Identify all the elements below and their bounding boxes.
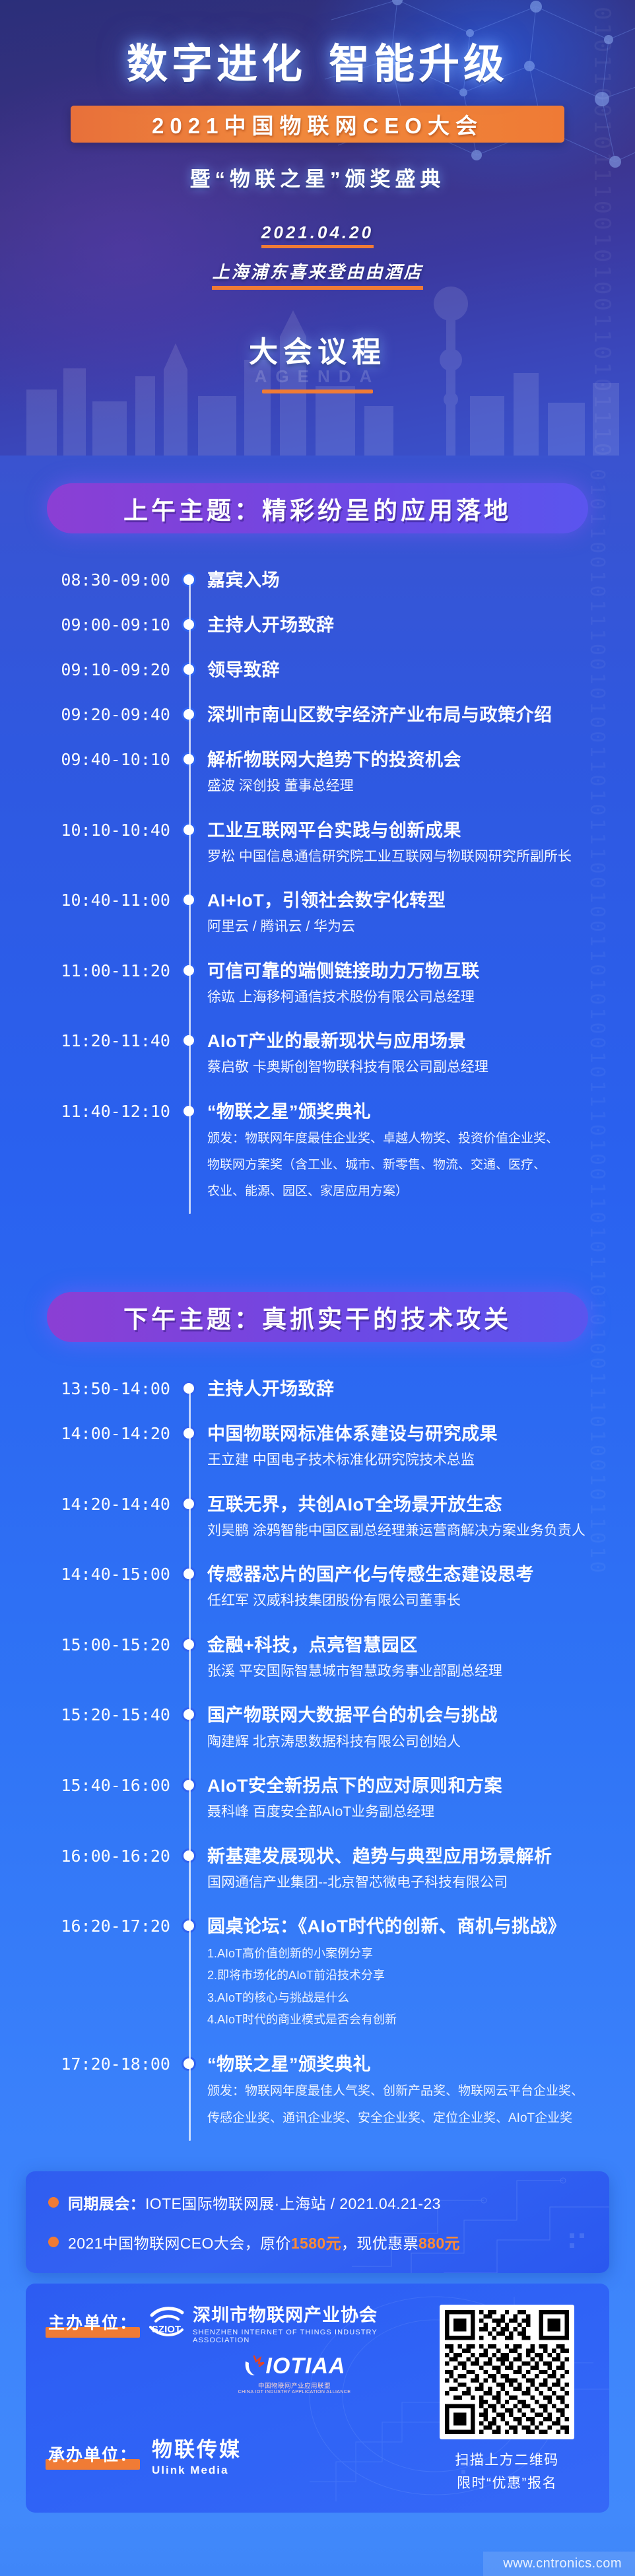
sziot-logo: SZIOT 深圳市物联网产业协会 SHENZHEN INTERNET OF TH… [147, 2301, 424, 2344]
expo-value: IOTE国际物联网展·上海站 / 2021.04.21-23 [145, 2195, 441, 2212]
agenda-topic: 解析物联网大趋势下的投资机会 [207, 749, 610, 771]
agenda-body: 0101100101110010100110101110010011010100… [0, 456, 635, 2519]
agenda-time: 09:10-09:20 [0, 659, 170, 679]
conference-name: 2021中国物联网CEO大会 [152, 108, 483, 140]
organizer-name-cn: 物联传媒 [152, 2433, 242, 2462]
agenda-speaker: 张溪 平安国际智慧城市智慧政务事业部副总经理 [207, 1661, 610, 1682]
qr-caption-line2: 限时“优惠”报名 [424, 2472, 589, 2495]
agenda-speaker: 任红军 汉威科技集团股份有限公司董事长 [207, 1590, 610, 1611]
agenda-row: 11:00-11:20 可信可靠的端侧链接助力万物互联 徐竑 上海移柯通信技术股… [0, 960, 635, 1031]
agenda-content: 圆桌论坛：《AIoT时代的创新、商机与挑战》 1.AIoT高价值创新的小案例分享… [207, 1915, 635, 2031]
agenda-topic: 金融+科技，点亮智慧园区 [207, 1634, 610, 1656]
registration-qr-code[interactable] [440, 2305, 574, 2439]
morning-session-label: 上午主题：精彩纷呈的应用落地 [123, 491, 512, 526]
expo-label: 同期展会： [68, 2195, 145, 2212]
agenda-topic: 嘉宾入场 [207, 569, 610, 592]
agenda-content: 中国物联网标准体系建设与研究成果 王立建 中国电子技术标准化研究院技术总监 [207, 1423, 635, 1471]
agenda-row: 11:20-11:40 AIoT产业的最新现状与应用场景 蔡启敬 卡奥斯创智物联… [0, 1030, 635, 1101]
agenda-topic: 工业互联网平台实践与创新成果 [207, 819, 610, 842]
agenda-topic: AI+IoT，引领社会数字化转型 [207, 889, 610, 912]
agenda-time: 10:10-10:40 [0, 819, 170, 840]
expo-info-text: 同期展会：IOTE国际物联网展·上海站 / 2021.04.21-23 [68, 2191, 441, 2214]
circuit-decor-icon [345, 2171, 609, 2273]
agenda-speaker: 徐竑 上海移柯通信技术股份有限公司总经理 [207, 987, 610, 1008]
agenda-time: 13:50-14:00 [0, 1378, 170, 1398]
panel-bullet: 4.AIoT时代的商业模式是否会有创新 [207, 2009, 610, 2031]
agenda-time: 09:40-10:10 [0, 749, 170, 769]
agenda-content: 可信可靠的端侧链接助力万物互联 徐竑 上海移柯通信技术股份有限公司总经理 [207, 960, 635, 1008]
main-title-part2: 智能升级 [329, 42, 508, 87]
agenda-speaker: 盛波 深创投 董事总经理 [207, 776, 610, 797]
agenda-content: 主持人开场致辞 [207, 1378, 635, 1400]
agenda-row: 16:00-16:20 新基建发展现状、趋势与典型应用场景解析 国网通信产业集团… [0, 1845, 635, 1916]
iotiaa-logo: IOTIAA 中国物联网产业应用联盟 CHINA IOT INDUSTRY AP… [164, 2354, 424, 2394]
agenda-row: 15:40-16:00 AIoT安全新拐点下的应对原则和方案 聂科峰 百度安全部… [0, 1775, 635, 1845]
agenda-row-award: 11:40-12:10 “物联之星”颁奖典礼 颁发：物联网年度最佳企业奖、卓越人… [0, 1101, 635, 1225]
organizers-box: 主办单位： SZIOT 深圳市物联网产业协会 SH [26, 2284, 609, 2513]
agenda-row: 13:50-14:00 主持人开场致辞 [0, 1378, 635, 1423]
agenda-time: 16:20-17:20 [0, 1915, 170, 1936]
agenda-topic: AIoT安全新拐点下的应对原则和方案 [207, 1775, 610, 1797]
agenda-topic: 国产物联网大数据平台的机会与挑战 [207, 1704, 610, 1726]
agenda-topic: 主持人开场致辞 [207, 1378, 610, 1400]
agenda-topic: 传感器芯片的国产化与传感生态建设思考 [207, 1563, 610, 1586]
organizer-label: 承办单位： [46, 2442, 140, 2467]
event-date: 2021.04.20 [261, 222, 374, 248]
agenda-row: 10:10-10:40 工业互联网平台实践与创新成果 罗松 中国信息通信研究院工… [0, 819, 635, 890]
agenda-time: 16:00-16:20 [0, 1845, 170, 1866]
agenda-topic: AIoT产业的最新现状与应用场景 [207, 1030, 610, 1052]
award-note-line3: 农业、能源、园区、家居应用方案） [207, 1180, 610, 1202]
agenda-content: 主持人开场致辞 [207, 614, 635, 636]
agenda-content: 深圳市南山区数字经济产业布局与政策介绍 [207, 704, 635, 726]
organizer-name-en: Ulink Media [152, 2464, 242, 2477]
agenda-content: 嘉宾入场 [207, 569, 635, 592]
agenda-row-panel: 16:20-17:20 圆桌论坛：《AIoT时代的创新、商机与挑战》 1.AIo… [0, 1915, 635, 2053]
award-note-line1: 颁发：物联网年度最佳人气奖、创新产品奖、物联网云平台企业奖、 [207, 2080, 610, 2102]
agenda-content: “物联之星”颁奖典礼 颁发：物联网年度最佳企业奖、卓越人物奖、投资价值企业奖、 … [207, 1101, 635, 1203]
qr-caption-line1: 扫描上方二维码 [424, 2449, 589, 2472]
agenda-time: 09:00-09:10 [0, 614, 170, 634]
agenda-time: 08:30-09:00 [0, 569, 170, 590]
agenda-subtitle-en: AGENDA [0, 366, 635, 387]
svg-text:SZIOT: SZIOT [152, 2324, 181, 2335]
section-spacer [0, 1231, 635, 1292]
agenda-row-award: 17:20-18:00 “物联之星”颁奖典礼 颁发：物联网年度最佳人气奖、创新产… [0, 2053, 635, 2152]
hero-section: 0101100101110010100110101110010011010100… [0, 0, 635, 456]
alliance-name-cn: 中国物联网产业应用联盟 [164, 2381, 424, 2390]
expo-info-line: 同期展会：IOTE国际物联网展·上海站 / 2021.04.21-23 [48, 2191, 587, 2214]
morning-session-header: 上午主题：精彩纷呈的应用落地 [47, 483, 588, 533]
agenda-row: 09:10-09:20 领导致辞 [0, 659, 635, 704]
agenda-topic: 领导致辞 [207, 659, 610, 681]
agenda-speaker: 阿里云 / 腾讯云 / 华为云 [207, 916, 610, 937]
agenda-speaker: 聂科峰 百度安全部AIoT业务副总经理 [207, 1802, 610, 1823]
agenda-time: 11:00-11:20 [0, 960, 170, 980]
panel-bullet: 3.AIoT的核心与挑战是什么 [207, 1987, 610, 2009]
agenda-content: AIoT安全新拐点下的应对原则和方案 聂科峰 百度安全部AIoT业务副总经理 [207, 1775, 635, 1823]
ticket-info-box: 同期展会：IOTE国际物联网展·上海站 / 2021.04.21-23 2021… [26, 2171, 609, 2273]
agenda-row: 09:00-09:10 主持人开场致辞 [0, 614, 635, 659]
organizer-row: 承办单位： 物联传媒 Ulink Media [46, 2433, 424, 2477]
agenda-time: 15:00-15:20 [0, 1634, 170, 1654]
award-note-line1: 颁发：物联网年度最佳企业奖、卓越人物奖、投资价值企业奖、 [207, 1128, 610, 1149]
agenda-time: 14:00-14:20 [0, 1423, 170, 1443]
agenda-time: 15:20-15:40 [0, 1704, 170, 1724]
host-row: 主办单位： SZIOT 深圳市物联网产业协会 SH [46, 2301, 424, 2344]
agenda-speaker: 蔡启敬 卡奥斯创智物联科技有限公司副总经理 [207, 1057, 610, 1078]
agenda-speaker: 国网通信产业集团--北京智芯微电子科技有限公司 [207, 1872, 610, 1893]
agenda-underline [262, 390, 373, 393]
panel-bullet: 2.即将市场化的AIoT前沿技术分享 [207, 1965, 610, 1986]
agenda-speaker: 刘昊鹏 涂鸦智能中国区副总经理兼运营商解决方案业务负责人 [207, 1520, 610, 1542]
iotiaa-flame-icon [243, 2355, 265, 2377]
organizer-logos-column: 主办单位： SZIOT 深圳市物联网产业协会 SH [46, 2301, 424, 2495]
host-label: 主办单位： [46, 2310, 140, 2335]
price-middle: ，现优惠票 [341, 2235, 418, 2252]
sziot-mark-icon: SZIOT [147, 2303, 186, 2342]
agenda-speaker: 王立建 中国电子技术标准化研究院技术总监 [207, 1450, 610, 1471]
agenda-row: 14:20-14:40 互联无界，共创AIoT全场景开放生态 刘昊鹏 涂鸦智能中… [0, 1493, 635, 1564]
conference-name-banner: 2021中国物联网CEO大会 [71, 106, 564, 143]
agenda-content: 领导致辞 [207, 659, 635, 681]
agenda-topic: 主持人开场致辞 [207, 614, 610, 636]
page-title: 数字进化智能升级 [0, 30, 635, 90]
agenda-time: 10:40-11:00 [0, 889, 170, 910]
agenda-time: 11:20-11:40 [0, 1030, 170, 1050]
agenda-speaker: 陶建辉 北京涛思数据科技有限公司创始人 [207, 1732, 610, 1753]
bullet-dot-icon [48, 2237, 59, 2247]
agenda-content: AIoT产业的最新现状与应用场景 蔡启敬 卡奥斯创智物联科技有限公司副总经理 [207, 1030, 635, 1078]
agenda-topic: 深圳市南山区数字经济产业布局与政策介绍 [207, 704, 610, 726]
agenda-content: 国产物联网大数据平台的机会与挑战 陶建辉 北京涛思数据科技有限公司创始人 [207, 1704, 635, 1752]
award-note-line2: 传感企业奖、通讯企业奖、安全企业奖、定位企业奖、AIoT企业奖 [207, 2107, 610, 2129]
price-prefix: 2021中国物联网CEO大会，原价 [68, 2235, 291, 2252]
morning-timeline: 08:30-09:00 嘉宾入场 09:00-09:10 主持人开场致辞 09:… [0, 547, 635, 1231]
main-title-part1: 数字进化 [127, 42, 306, 87]
afternoon-session-label: 下午主题：真抓实干的技术攻关 [123, 1299, 512, 1335]
conference-subtitle: 暨“物联之星”颁奖盛典 [0, 162, 635, 192]
agenda-topic: 互联无界，共创AIoT全场景开放生态 [207, 1493, 610, 1516]
agenda-content: 工业互联网平台实践与创新成果 罗松 中国信息通信研究院工业互联网与物联网研究所副… [207, 819, 635, 867]
agenda-content: AI+IoT，引领社会数字化转型 阿里云 / 腾讯云 / 华为云 [207, 889, 635, 937]
agenda-title: 大会议程 [0, 328, 635, 370]
agenda-heading-block: 大会议程 AGENDA [0, 328, 635, 393]
timeline-rail [189, 1384, 191, 2140]
agenda-row: 15:00-15:20 金融+科技，点亮智慧园区 张溪 平安国际智慧城市智慧政务… [0, 1634, 635, 1705]
site-watermark: www.cntronics.com [483, 2552, 635, 2576]
agenda-time: 15:40-16:00 [0, 1775, 170, 1795]
agenda-time: 14:40-15:00 [0, 1563, 170, 1584]
original-price: 1580元 [291, 2235, 341, 2252]
agenda-time: 14:20-14:40 [0, 1493, 170, 1514]
panel-bullet-list: 1.AIoT高价值创新的小案例分享 2.即将市场化的AIoT前沿技术分享 3.A… [207, 1943, 610, 2031]
host-name-cn: 深圳市物联网产业协会 [193, 2301, 424, 2326]
agenda-row: 14:40-15:00 传感器芯片的国产化与传感生态建设思考 任红军 汉威科技集… [0, 1563, 635, 1634]
agenda-content: 金融+科技，点亮智慧园区 张溪 平安国际智慧城市智慧政务事业部副总经理 [207, 1634, 635, 1682]
agenda-row: 09:20-09:40 深圳市南山区数字经济产业布局与政策介绍 [0, 704, 635, 749]
agenda-content: 新基建发展现状、趋势与典型应用场景解析 国网通信产业集团--北京智芯微电子科技有… [207, 1845, 635, 1893]
agenda-row: 15:20-15:40 国产物联网大数据平台的机会与挑战 陶建辉 北京涛思数据科… [0, 1704, 635, 1775]
ulink-media-logo: 物联传媒 Ulink Media [152, 2433, 242, 2477]
afternoon-session-header: 下午主题：真抓实干的技术攻关 [47, 1292, 588, 1342]
afternoon-timeline: 13:50-14:00 主持人开场致辞 14:00-14:20 中国物联网标准体… [0, 1355, 635, 2157]
qr-caption: 扫描上方二维码 限时“优惠”报名 [424, 2449, 589, 2495]
panel-bullet: 1.AIoT高价值创新的小案例分享 [207, 1943, 610, 1965]
conference-agenda-poster: 0101100101110010100110101110010011010100… [0, 0, 635, 2576]
iotiaa-text: IOTIAA [265, 2354, 345, 2379]
price-info-text: 2021中国物联网CEO大会，原价1580元，现优惠票880元 [68, 2231, 460, 2253]
agenda-row: 10:40-11:00 AI+IoT，引领社会数字化转型 阿里云 / 腾讯云 /… [0, 889, 635, 960]
iotiaa-wordmark: IOTIAA [243, 2354, 345, 2379]
timeline-rail [189, 576, 191, 1214]
agenda-content: 传感器芯片的国产化与传感生态建设思考 任红军 汉威科技集团股份有限公司董事长 [207, 1563, 635, 1611]
agenda-row: 14:00-14:20 中国物联网标准体系建设与研究成果 王立建 中国电子技术标… [0, 1423, 635, 1493]
award-note-line2: 物联网方案奖（含工业、城市、新零售、物流、交通、医疗、 [207, 1154, 610, 1176]
agenda-topic: 圆桌论坛：《AIoT时代的创新、商机与挑战》 [207, 1915, 610, 1938]
event-venue: 上海浦东喜来登由由酒店 [212, 259, 422, 290]
qr-column: 扫描上方二维码 限时“优惠”报名 [424, 2301, 589, 2495]
agenda-time: 09:20-09:40 [0, 704, 170, 724]
poster-footer: www.cntronics.com [0, 2519, 635, 2576]
agenda-row: 09:40-10:10 解析物联网大趋势下的投资机会 盛波 深创投 董事总经理 [0, 749, 635, 819]
agenda-topic: “物联之星”颁奖典礼 [207, 2053, 610, 2076]
agenda-topic: “物联之星”颁奖典礼 [207, 1101, 610, 1123]
agenda-time: 17:20-18:00 [0, 2053, 170, 2074]
host-name-en: SHENZHEN INTERNET OF THINGS INDUSTRY ASS… [193, 2328, 424, 2344]
qr-code-icon [445, 2310, 569, 2434]
agenda-content: 解析物联网大趋势下的投资机会 盛波 深创投 董事总经理 [207, 749, 635, 797]
sziot-text: 深圳市物联网产业协会 SHENZHEN INTERNET OF THINGS I… [193, 2301, 424, 2344]
agenda-topic: 可信可靠的端侧链接助力万物互联 [207, 960, 610, 982]
agenda-row: 08:30-09:00 嘉宾入场 [0, 569, 635, 614]
agenda-topic: 中国物联网标准体系建设与研究成果 [207, 1423, 610, 1445]
sale-price: 880元 [418, 2235, 460, 2252]
agenda-content: 互联无界，共创AIoT全场景开放生态 刘昊鹏 涂鸦智能中国区副总经理兼运营商解决… [207, 1493, 635, 1542]
alliance-name-en: CHINA IOT INDUSTRY APPLICATION ALLIANCE [164, 2390, 424, 2394]
bullet-dot-icon [48, 2197, 59, 2208]
agenda-speaker: 罗松 中国信息通信研究院工业互联网与物联网研究所副所长 [207, 846, 610, 867]
agenda-content: “物联之星”颁奖典礼 颁发：物联网年度最佳人气奖、创新产品奖、物联网云平台企业奖… [207, 2053, 635, 2129]
agenda-time: 11:40-12:10 [0, 1101, 170, 1121]
agenda-topic: 新基建发展现状、趋势与典型应用场景解析 [207, 1845, 610, 1868]
price-info-line: 2021中国物联网CEO大会，原价1580元，现优惠票880元 [48, 2231, 587, 2253]
